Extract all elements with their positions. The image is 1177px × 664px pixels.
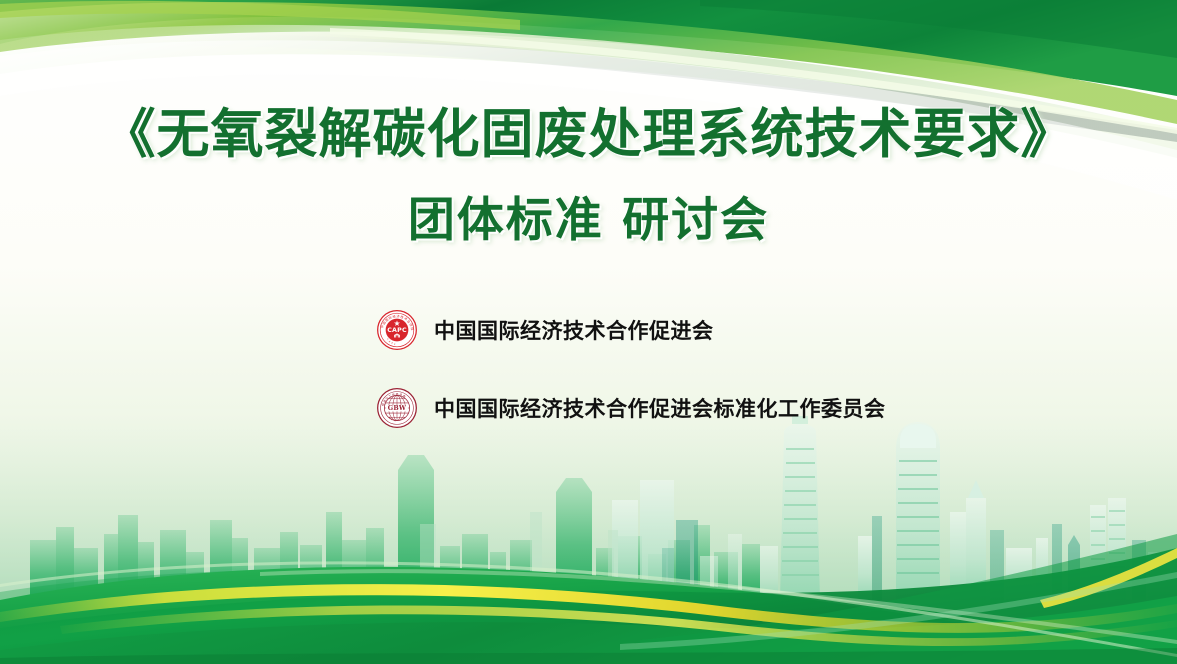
capc-seal-logo: CAPC 中国国际经济技术合作促进会 C A P C (376, 309, 418, 351)
organization-label: 中国国际经济技术合作促进会 (434, 315, 714, 345)
svg-text:CAPC: CAPC (387, 327, 407, 334)
page-subtitle: 团体标准 研讨会 (0, 193, 1177, 249)
organization-label: 中国国际经济技术合作促进会标准化工作委员会 (434, 393, 886, 423)
organization-row: CAPC 中国国际经济技术合作促进会 C A P C 中国国际经济技术合作促进会 (376, 306, 886, 354)
title-block: 《无氧裂解碳化固废处理系统技术要求》 团体标准 研讨会 (0, 104, 1177, 249)
presentation-slide: 《无氧裂解碳化固废处理系统技术要求》 团体标准 研讨会 (0, 0, 1177, 664)
organization-list: CAPC 中国国际经济技术合作促进会 C A P C 中国国际经济技术合作促进会 (376, 306, 886, 462)
slide-content: 《无氧裂解碳化固废处理系统技术要求》 团体标准 研讨会 (0, 0, 1177, 664)
svg-text:GBW: GBW (388, 405, 407, 412)
page-title: 《无氧裂解碳化固废处理系统技术要求》 (0, 104, 1177, 167)
gbw-seal-logo: GBW 标准化工作委员会 G B W (376, 387, 418, 429)
organization-row: GBW 标准化工作委员会 G B W 中国国际经济技术合作促进会标准化工作委员会 (376, 384, 886, 432)
